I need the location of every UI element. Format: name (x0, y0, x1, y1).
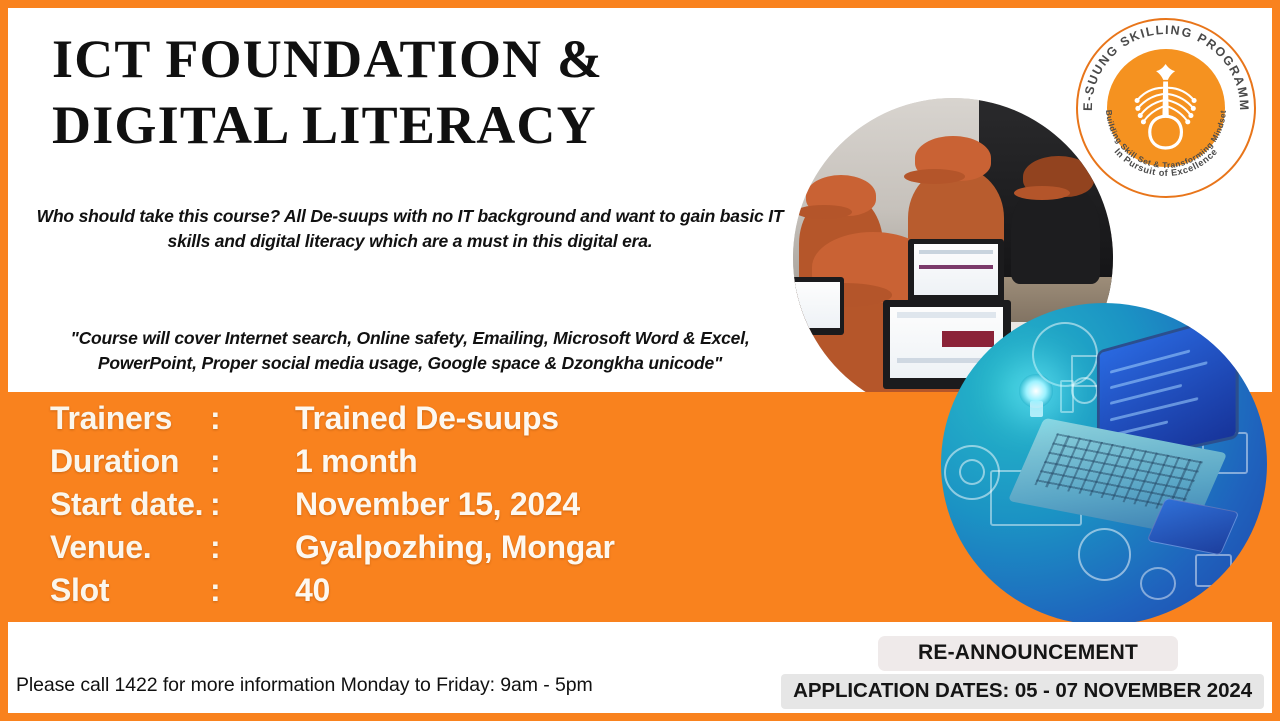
detail-label: Duration (50, 443, 210, 480)
mail-envelope-icon (1195, 554, 1232, 587)
photo-laptop-center (908, 239, 1004, 303)
photo-screen-bar (919, 250, 993, 254)
detail-row-slot: Slot : 40 (50, 572, 750, 615)
title-line-2: DIGITAL LITERACY (52, 92, 772, 158)
photo-screen-bar (897, 312, 996, 317)
bulb-circle-icon (1078, 528, 1131, 580)
target-circle-icon (1071, 377, 1098, 404)
detail-value: November 15, 2024 (295, 486, 580, 523)
page-title: ICT FOUNDATION & DIGITAL LITERACY (52, 26, 772, 158)
detail-value: Gyalpozhing, Mongar (295, 529, 615, 566)
detail-label: Start date. (50, 486, 210, 523)
detail-label: Slot (50, 572, 210, 609)
footer-panel: Please call 1422 for more information Mo… (8, 622, 1272, 713)
detail-row-venue: Venue. : Gyalpozhing, Mongar (50, 529, 750, 572)
photo-laptop-screen-left (793, 282, 840, 328)
lightbulb-icon (1019, 374, 1053, 408)
photo-screen-bar (942, 331, 994, 347)
details-list: Trainers : Trained De-suups Duration : 1… (50, 400, 750, 615)
de-suung-logo: DE-SUUNG SKILLING PROGRAMME Building Ski… (1076, 18, 1256, 198)
detail-value: Trained De-suups (295, 400, 559, 437)
status-badge-reannouncement: RE-ANNOUNCEMENT (878, 636, 1178, 671)
tech-smartphone (1147, 497, 1240, 555)
detail-separator: : (210, 400, 295, 437)
detail-separator: : (210, 486, 295, 523)
detail-separator: : (210, 443, 295, 480)
detail-row-duration: Duration : 1 month (50, 443, 750, 486)
detail-row-trainers: Trainers : Trained De-suups (50, 400, 750, 443)
course-content-description: "Course will cover Internet search, Onli… (24, 326, 796, 376)
title-line-1: ICT FOUNDATION & (52, 26, 772, 92)
screen-line (1110, 384, 1182, 405)
photo-cap-back-mid (915, 136, 992, 181)
audience-description: Who should take this course? All De-suup… (24, 204, 796, 254)
detail-separator: : (210, 529, 295, 566)
photo-laptop-screen-center (914, 244, 999, 295)
status-badge-application-dates: APPLICATION DATES: 05 - 07 NOVEMBER 2024 (781, 674, 1264, 709)
detail-label: Trainers (50, 400, 210, 437)
technology-photo (941, 303, 1267, 625)
garuda-emblem-icon (1126, 58, 1205, 159)
detail-value: 1 month (295, 443, 417, 480)
contact-info-text: Please call 1422 for more information Mo… (16, 674, 593, 697)
detail-separator: : (210, 572, 295, 609)
photo-cap-back-left (806, 175, 876, 217)
detail-value: 40 (295, 572, 330, 609)
photo-screen-bar (919, 265, 993, 269)
detail-row-start-date: Start date. : November 15, 2024 (50, 486, 750, 529)
chat-bubble-icon (1140, 567, 1177, 600)
detail-label: Venue. (50, 529, 210, 566)
photo-laptop-left (793, 277, 844, 335)
poster-canvas: ICT FOUNDATION & DIGITAL LITERACY Who sh… (0, 0, 1280, 721)
